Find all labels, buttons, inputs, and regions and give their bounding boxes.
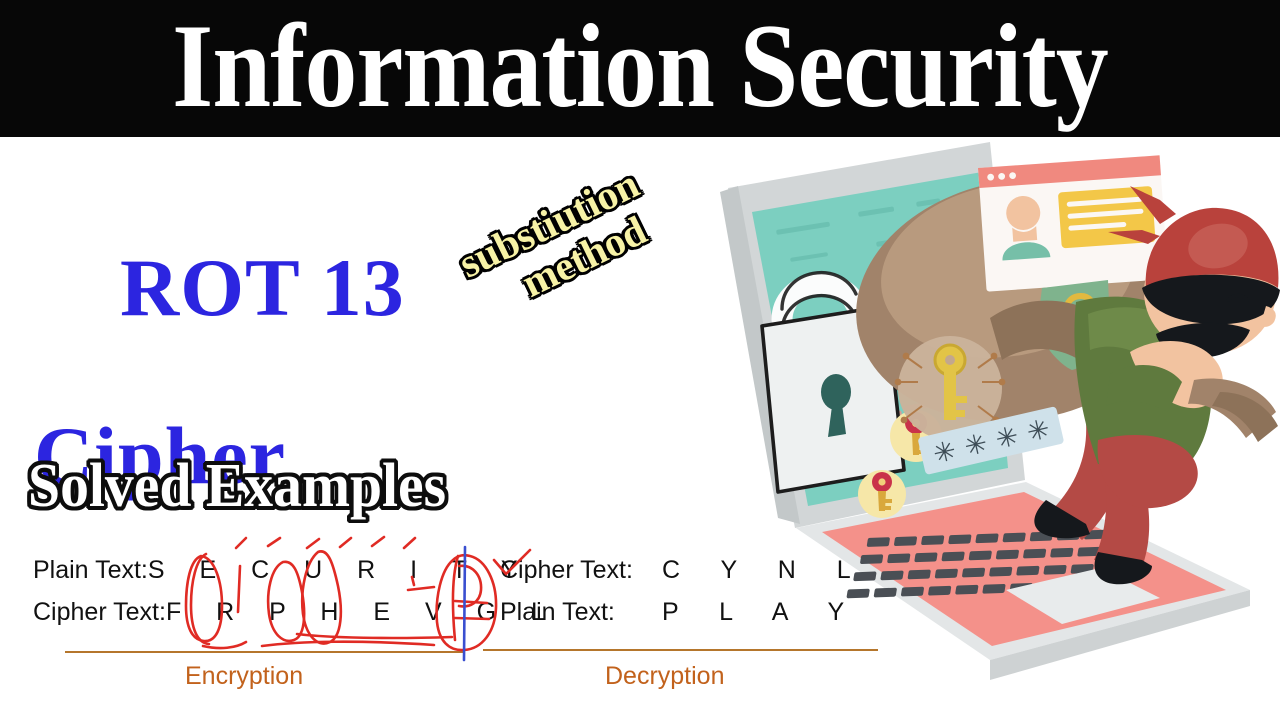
row-letters: S E C U R I T Y [148,556,532,585]
page-title: Information Security [77,0,1203,136]
browser-card [978,155,1168,291]
key-badge-icon-2 [858,470,906,518]
encryption-divider [65,651,465,653]
ink-tick-t [404,538,415,548]
row-label: Plain Text: [33,556,148,585]
slide-canvas: Information Security ROT 13 Cipher subst… [0,0,1280,720]
encryption-caption: Encryption [185,662,303,691]
hacker-illustration: ✳ ✳ ✳ ✳ [690,120,1280,720]
row-label: Plain Text: [500,598,652,627]
example-encryption: Plain Text: S E C U R I T Y Cipher Text:… [33,556,473,640]
example-row: Cipher Text: F R P H E V G L [33,598,473,640]
example-row: Plain Text: S E C U R I T Y [33,556,473,598]
headline-line-1: ROT 13 [120,242,405,333]
row-label: Cipher Text: [500,556,652,585]
row-label: Cipher Text: [33,598,166,627]
section-title: Solved Examples [28,450,446,522]
substitution-method-sticker: substiution method [452,161,666,327]
title-banner: Information Security [0,0,1280,137]
